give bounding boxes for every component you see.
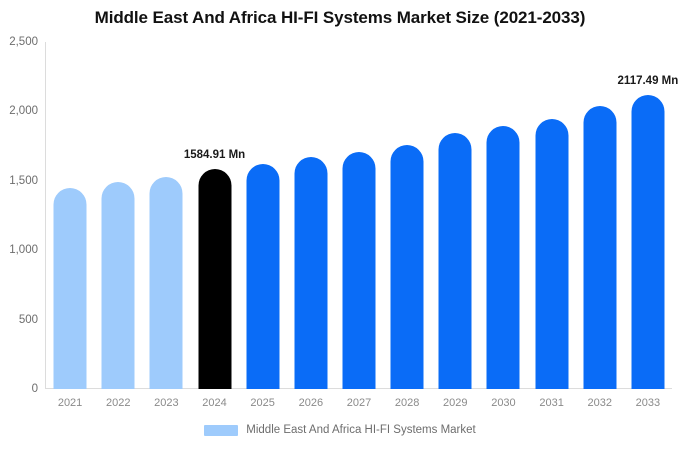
bar-group[interactable]: 2027 <box>335 42 383 389</box>
x-axis-tick-label: 2024 <box>202 397 226 409</box>
chart-title: Middle East And Africa HI-FI Systems Mar… <box>0 8 680 28</box>
chart-legend: Middle East And Africa HI-FI Systems Mar… <box>0 424 680 436</box>
bar[interactable] <box>150 177 183 389</box>
bar-group[interactable]: 2032 <box>576 42 624 389</box>
y-axis-tick-label: 0 <box>32 383 38 395</box>
bar[interactable] <box>583 106 616 389</box>
bar-series: 2021202220231584.91 Mn202420252026202720… <box>46 42 672 389</box>
x-axis-tick-label: 2022 <box>106 397 130 409</box>
legend-label: Middle East And Africa HI-FI Systems Mar… <box>246 424 475 436</box>
bar[interactable] <box>487 126 520 389</box>
bar-group[interactable]: 2026 <box>287 42 335 389</box>
bar-group[interactable]: 2030 <box>479 42 527 389</box>
x-axis-tick-label: 2025 <box>250 397 274 409</box>
bar-group[interactable]: 2021 <box>46 42 94 389</box>
bar-chart: Middle East And Africa HI-FI Systems Mar… <box>0 0 680 450</box>
bar[interactable] <box>342 152 375 389</box>
bar-group[interactable]: 1584.91 Mn2024 <box>190 42 238 389</box>
y-axis-tick-label: 1,000 <box>9 244 38 256</box>
x-axis-tick-label: 2031 <box>539 397 563 409</box>
bar[interactable] <box>246 164 279 389</box>
x-axis-tick-label: 2028 <box>395 397 419 409</box>
x-axis-tick-label: 2027 <box>347 397 371 409</box>
plot-area: 05001,0001,5002,0002,500 202120222023158… <box>46 42 672 389</box>
x-axis-tick-label: 2029 <box>443 397 467 409</box>
y-axis-tick-label: 2,500 <box>9 36 38 48</box>
x-axis-tick-label: 2023 <box>154 397 178 409</box>
bar[interactable] <box>391 145 424 389</box>
bar-value-label: 1584.91 Mn <box>184 149 245 161</box>
x-axis-tick-label: 2033 <box>636 397 660 409</box>
y-axis-tick-label: 500 <box>19 314 38 326</box>
bar-value-label: 2117.49 Mn <box>618 75 679 87</box>
bar-group[interactable]: 2117.49 Mn2033 <box>624 42 672 389</box>
legend-swatch-icon <box>204 425 238 436</box>
bar[interactable] <box>294 157 327 389</box>
bar-group[interactable]: 2022 <box>94 42 142 389</box>
bar[interactable] <box>535 119 568 389</box>
bar-group[interactable]: 2029 <box>431 42 479 389</box>
legend-item[interactable]: Middle East And Africa HI-FI Systems Mar… <box>204 424 475 436</box>
x-axis-tick-label: 2021 <box>58 397 82 409</box>
y-axis-tick-label: 2,000 <box>9 105 38 117</box>
bar-group[interactable]: 2025 <box>239 42 287 389</box>
bar[interactable] <box>198 169 231 389</box>
bar-group[interactable]: 2028 <box>383 42 431 389</box>
bar-group[interactable]: 2031 <box>528 42 576 389</box>
bar[interactable] <box>54 188 87 389</box>
x-axis-tick-label: 2032 <box>588 397 612 409</box>
bar[interactable] <box>102 182 135 389</box>
bar-group[interactable]: 2023 <box>142 42 190 389</box>
y-axis-tick-label: 1,500 <box>9 175 38 187</box>
bar[interactable] <box>631 95 664 389</box>
x-axis-tick-label: 2030 <box>491 397 515 409</box>
x-axis-tick-label: 2026 <box>299 397 323 409</box>
bar[interactable] <box>439 133 472 389</box>
